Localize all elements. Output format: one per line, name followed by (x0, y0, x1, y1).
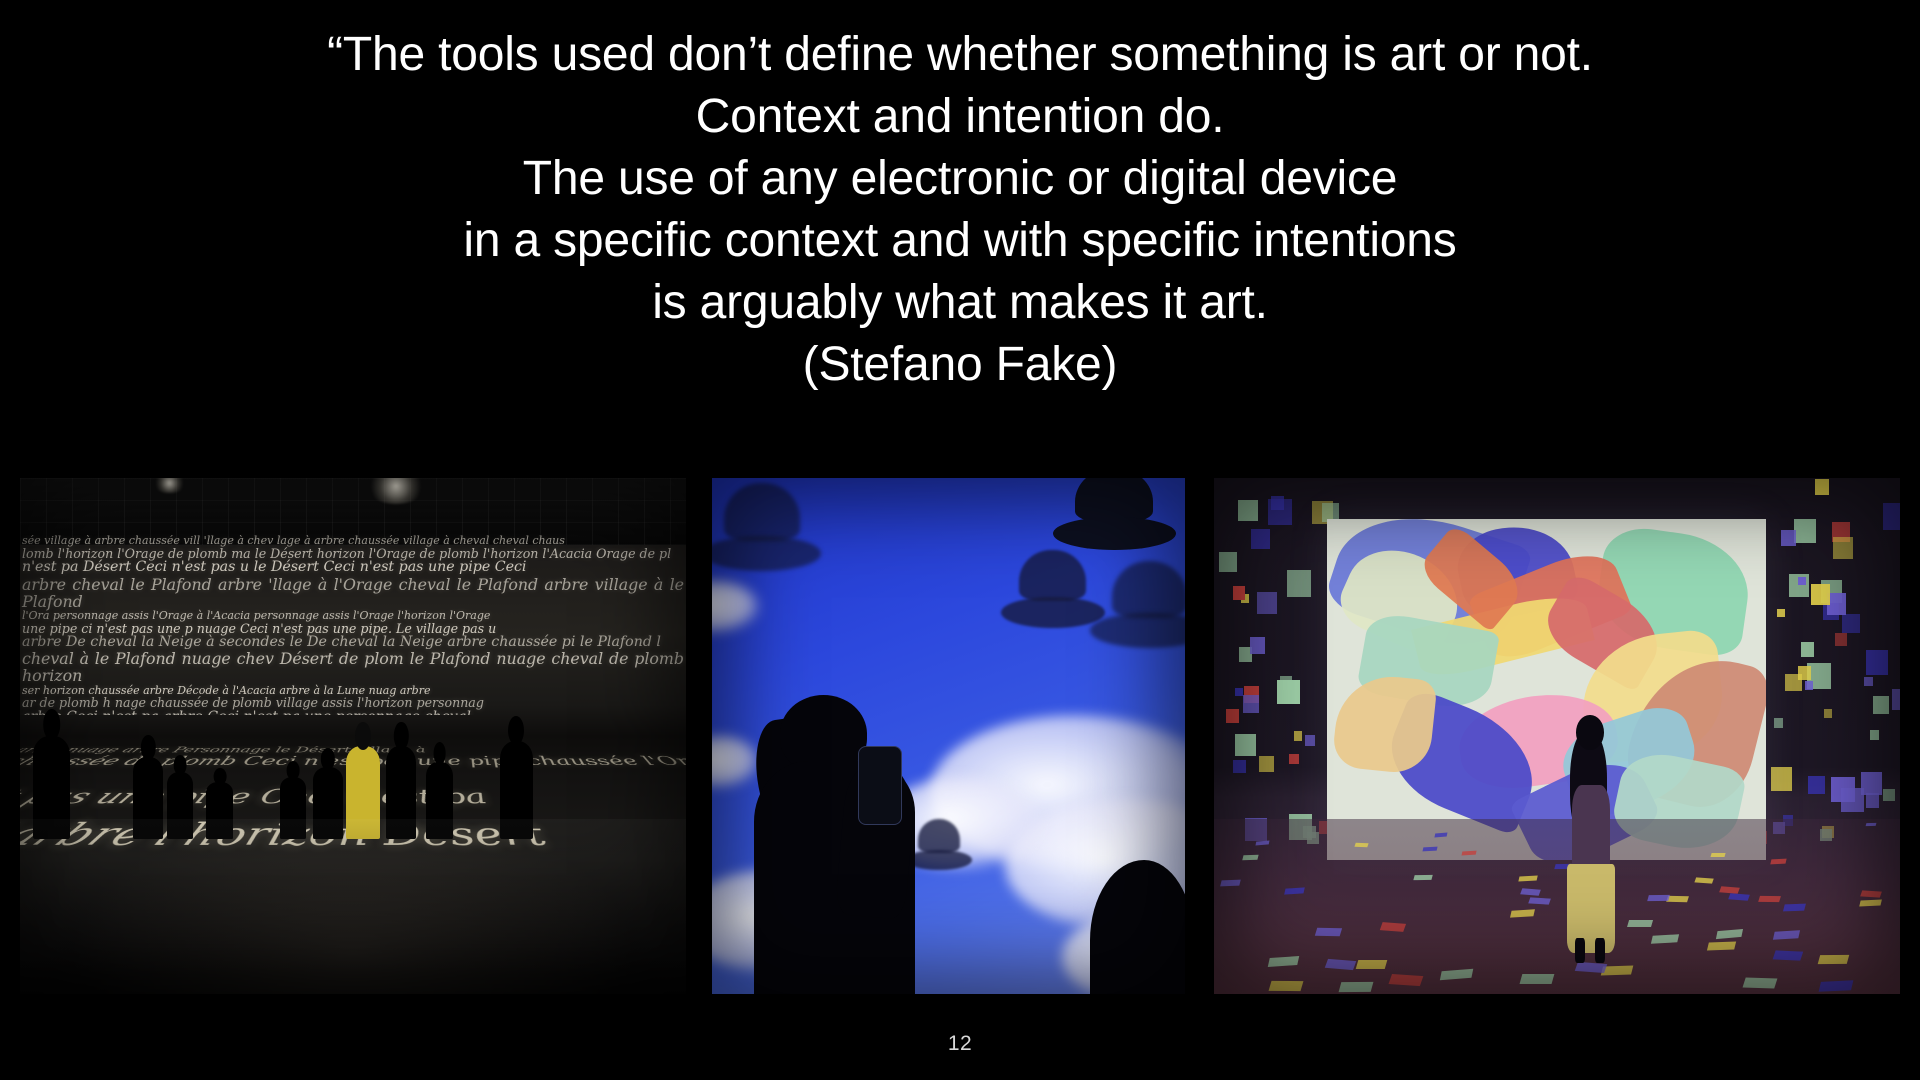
projected-square (1824, 709, 1832, 718)
projected-square (1811, 584, 1830, 605)
projected-square (1294, 731, 1302, 740)
floor-square (1574, 962, 1607, 973)
bowler-hat-icon (1001, 550, 1105, 627)
projected-square (1235, 734, 1256, 756)
floor-square (1285, 887, 1306, 894)
floor-square (1434, 832, 1447, 836)
projected-square (1774, 718, 1783, 728)
floor-square (1314, 928, 1341, 936)
visitor-silhouette (500, 741, 533, 839)
projected-square (1271, 496, 1284, 510)
floor-square (1711, 853, 1727, 857)
projected-square (1233, 586, 1245, 600)
projected-square (1861, 772, 1882, 795)
projected-square (1257, 592, 1277, 614)
floor-square (1859, 900, 1882, 907)
projected-square (1870, 730, 1879, 739)
projected-square (1833, 537, 1853, 559)
projected-square (1892, 689, 1900, 710)
painting-shape (1331, 671, 1437, 776)
quote-line-1: “The tools used don’t define whether som… (0, 24, 1920, 86)
projected-square (1864, 677, 1872, 686)
visitor-silhouette (280, 777, 307, 839)
floor-square (1651, 935, 1679, 944)
floor-square (1667, 896, 1689, 903)
bowler-hat-icon (712, 483, 821, 571)
floor-square (1414, 875, 1433, 881)
visitor-silhouette (386, 746, 416, 839)
projected-square (1866, 650, 1889, 675)
smartphone-icon (858, 746, 901, 826)
floor-square (1520, 888, 1541, 895)
floor-square (1716, 929, 1743, 939)
photo-magritte-word-room: sée village à arbre chaussée vill 'llage… (20, 478, 686, 994)
floor-square (1743, 977, 1778, 988)
quote-line-3: The use of any electronic or digital dev… (0, 148, 1920, 210)
floor-square (1268, 981, 1303, 991)
projected-square (1250, 637, 1266, 655)
floor-square (1388, 974, 1422, 986)
projected-square (1226, 709, 1239, 723)
projected-square (1801, 642, 1815, 657)
floor-square (1860, 891, 1882, 898)
floor-square (1728, 893, 1750, 901)
quote-attribution: (Stefano Fake) (0, 334, 1920, 396)
projected-square (1280, 676, 1292, 690)
projected-square (1233, 760, 1245, 773)
floor-square (1627, 920, 1653, 927)
photo-bowler-hat-sky (712, 478, 1185, 994)
projected-square (1805, 681, 1813, 690)
floor-square (1440, 969, 1473, 981)
floor-square (1773, 930, 1801, 939)
floor-square (1866, 823, 1877, 826)
projected-square (1794, 519, 1815, 543)
projected-square (1287, 570, 1311, 596)
floor-square (1268, 956, 1299, 967)
quote-block: “The tools used don’t define whether som… (0, 24, 1920, 396)
photo-strip: sée village à arbre chaussée vill 'llage… (20, 478, 1900, 994)
bowler-hat-icon (1053, 478, 1176, 550)
floor-square (1818, 980, 1853, 992)
floor-square (1770, 859, 1786, 865)
projected-square (1243, 695, 1259, 713)
visitor-silhouette (1560, 715, 1622, 963)
visitor-photographing (745, 695, 963, 994)
floor-square (1818, 955, 1849, 964)
visitor-silhouette-yellow (346, 746, 379, 839)
projected-square (1785, 674, 1801, 692)
photo-abstract-painting-room (1214, 478, 1900, 994)
projected-square (1238, 500, 1258, 522)
floor-square (1758, 896, 1780, 903)
projected-abstract-painting (1327, 519, 1766, 860)
floor-square (1783, 903, 1806, 910)
quote-line-2: Context and intention do. (0, 86, 1920, 148)
projected-square (1777, 609, 1785, 618)
visitor-silhouette (426, 762, 453, 839)
floor-square (1220, 880, 1240, 886)
floor-square (1707, 942, 1736, 951)
projected-square (1835, 633, 1847, 646)
projected-square (1781, 530, 1796, 547)
floor-square (1325, 959, 1357, 970)
projected-square (1798, 577, 1806, 585)
visitor-silhouette (167, 772, 194, 839)
floor-square (1255, 840, 1269, 845)
page-number: 12 (0, 1032, 1920, 1056)
projected-square (1841, 788, 1864, 813)
projected-square (1866, 793, 1880, 808)
floor-square (1461, 850, 1477, 855)
projected-floor-squares (1214, 819, 1900, 994)
projected-square (1235, 688, 1243, 696)
floor-square (1773, 950, 1804, 960)
projected-square (1259, 756, 1274, 772)
projected-square (1771, 767, 1792, 790)
projected-square (1883, 789, 1895, 801)
visitor-silhouette (206, 782, 233, 839)
floor-square (1694, 878, 1713, 885)
floor-square (1338, 982, 1373, 992)
visitor-silhouette (313, 767, 343, 839)
floor-square (1242, 855, 1258, 860)
quote-line-5: is arguably what makes it art. (0, 272, 1920, 334)
projected-square (1808, 776, 1824, 794)
bowler-hat-icon (1090, 561, 1185, 649)
visitor-silhouette (133, 757, 163, 840)
floor-square (1356, 960, 1388, 969)
floor-square (1520, 974, 1554, 984)
projected-square (1883, 503, 1900, 529)
projected-square (1251, 529, 1270, 549)
floor-square (1380, 922, 1406, 931)
floor-square (1510, 910, 1535, 918)
floor-square (1518, 875, 1537, 881)
floor-square (1647, 895, 1669, 901)
projected-square (1873, 696, 1889, 714)
projected-square (1842, 614, 1859, 633)
projected-square (1815, 479, 1829, 495)
visitor-silhouette (33, 736, 70, 839)
projected-wall-text: sée village à arbre chaussée vill 'llage… (20, 535, 686, 716)
projected-square (1219, 552, 1238, 572)
floor-square (1528, 898, 1550, 906)
projected-square (1305, 735, 1315, 746)
floor-square (1354, 843, 1368, 848)
quote-line-4: in a specific context and with specific … (0, 210, 1920, 272)
floor-square (1422, 847, 1437, 852)
projected-square (1289, 754, 1299, 764)
